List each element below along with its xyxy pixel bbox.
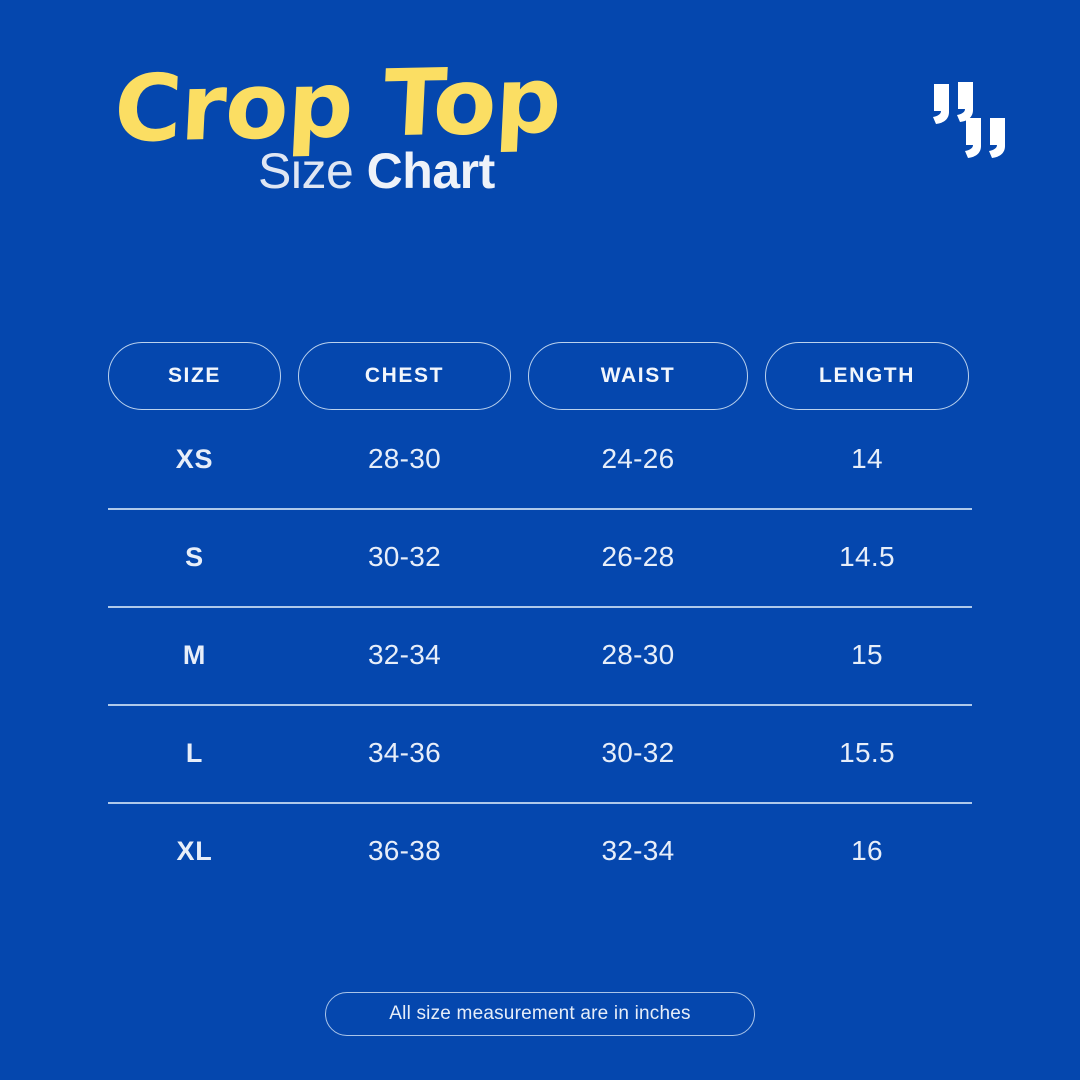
cell-length: 15 bbox=[765, 639, 969, 671]
cell-length: 15.5 bbox=[765, 737, 969, 769]
page-title: Crop Top Size Chart bbox=[108, 62, 828, 200]
table-body: XS 28-30 24-26 14 S 30-32 26-28 14.5 M 3… bbox=[108, 410, 972, 900]
column-header-length: LENGTH bbox=[765, 342, 969, 410]
cell-length: 14 bbox=[765, 443, 969, 475]
cell-waist: 26-28 bbox=[528, 541, 748, 573]
table-row: S 30-32 26-28 14.5 bbox=[108, 508, 972, 606]
table-header-row: SIZE CHEST WAIST LENGTH bbox=[108, 342, 972, 410]
cell-size: L bbox=[108, 738, 281, 769]
quote-marks-logo bbox=[928, 78, 1014, 162]
cell-chest: 32-34 bbox=[298, 639, 511, 671]
size-chart-table: SIZE CHEST WAIST LENGTH XS 28-30 24-26 1… bbox=[108, 342, 972, 900]
cell-size: M bbox=[108, 640, 281, 671]
column-header-waist: WAIST bbox=[528, 342, 748, 410]
cell-chest: 28-30 bbox=[298, 443, 511, 475]
column-header-chest: CHEST bbox=[298, 342, 511, 410]
cell-waist: 28-30 bbox=[528, 639, 748, 671]
cell-waist: 24-26 bbox=[528, 443, 748, 475]
cell-size: S bbox=[108, 542, 281, 573]
measurement-unit-note: All size measurement are in inches bbox=[325, 992, 755, 1036]
column-header-size: SIZE bbox=[108, 342, 281, 410]
cell-waist: 30-32 bbox=[528, 737, 748, 769]
table-row: XS 28-30 24-26 14 bbox=[108, 410, 972, 508]
size-chart-poster: Crop Top Size Chart SIZE CHEST WAIST LEN… bbox=[0, 0, 1080, 1080]
table-row: M 32-34 28-30 15 bbox=[108, 606, 972, 704]
cell-size: XS bbox=[108, 444, 281, 475]
title-main-text: Crop Top bbox=[112, 47, 834, 158]
cell-size: XL bbox=[108, 836, 281, 867]
table-row: XL 36-38 32-34 16 bbox=[108, 802, 972, 900]
table-row: L 34-36 30-32 15.5 bbox=[108, 704, 972, 802]
cell-chest: 36-38 bbox=[298, 835, 511, 867]
cell-length: 16 bbox=[765, 835, 969, 867]
cell-chest: 34-36 bbox=[298, 737, 511, 769]
cell-chest: 30-32 bbox=[298, 541, 511, 573]
cell-waist: 32-34 bbox=[528, 835, 748, 867]
cell-length: 14.5 bbox=[765, 541, 969, 573]
